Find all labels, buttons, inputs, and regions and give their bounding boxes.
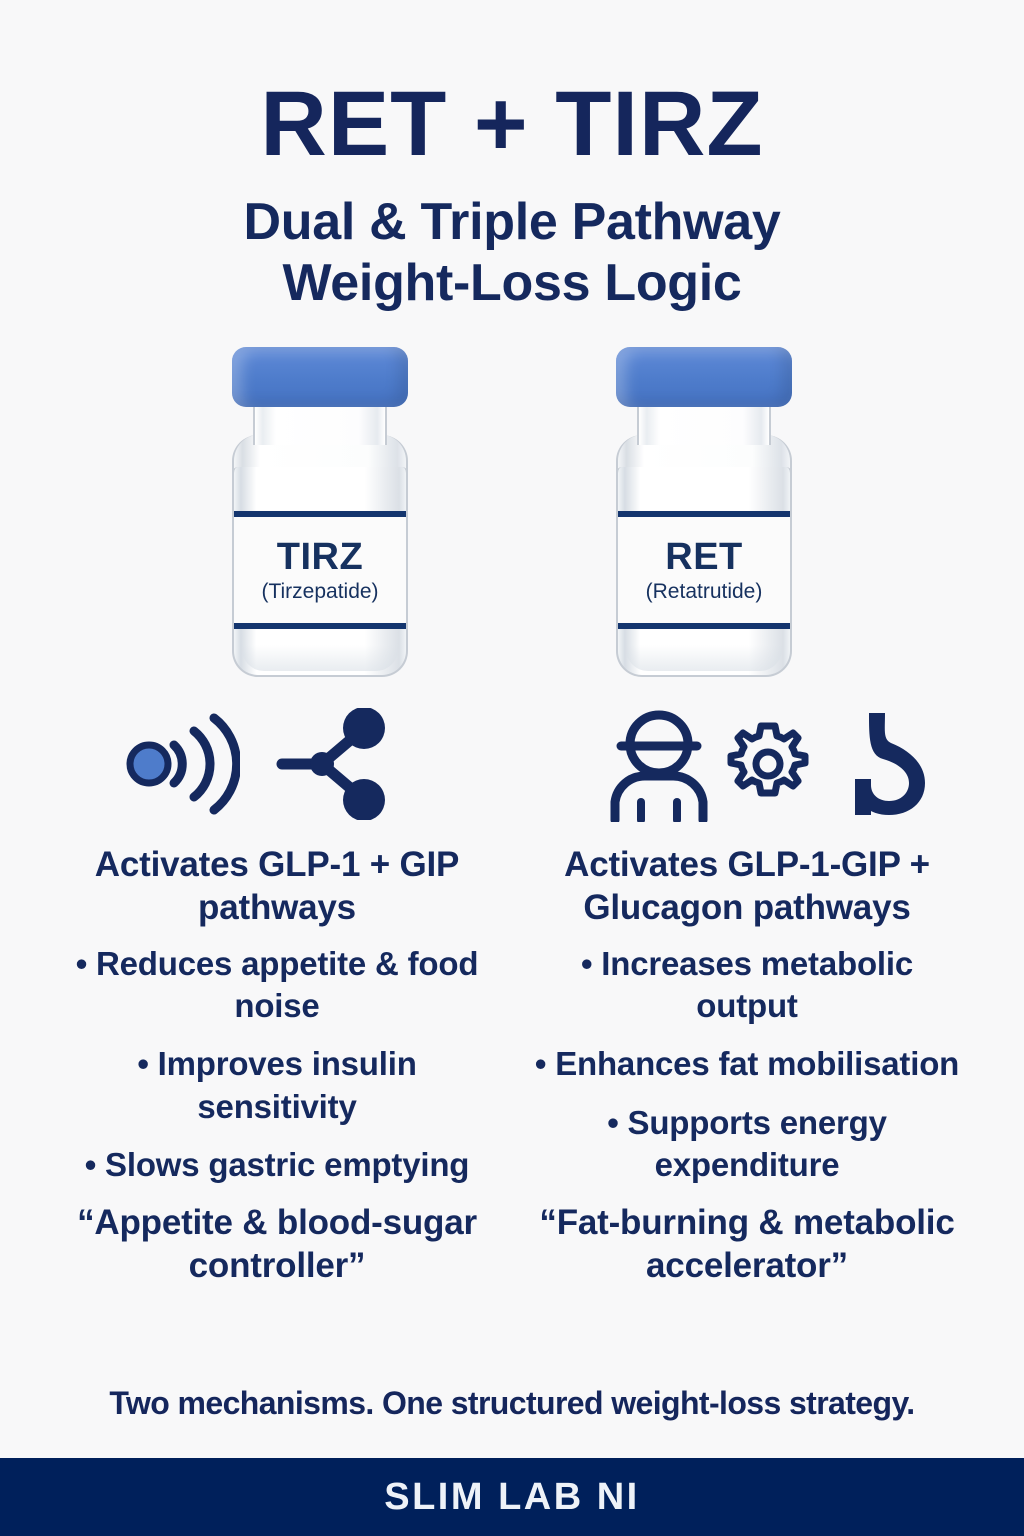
benefit-list: • Increases metabolic output • Enhances … — [526, 943, 968, 1186]
icon-group-tirz — [0, 699, 512, 829]
benefit-list: • Reduces appetite & food noise • Improv… — [56, 943, 498, 1186]
vial-label: TIRZ (Tirzepatide) — [234, 511, 406, 629]
vial-cap-icon — [616, 347, 792, 407]
brand-name: SLIM LAB NI — [384, 1476, 639, 1519]
vial-label-generic: (Retatrutide) — [646, 581, 763, 602]
vial-tirz: TIRZ (Tirzepatide) — [232, 347, 408, 677]
vial-ret: RET (Retatrutide) — [616, 347, 792, 677]
column-quote: “Fat-burning & metabolic accelerator” — [526, 1202, 968, 1287]
vial-cap-icon — [232, 347, 408, 407]
column-heading: Activates GLP-1 + GIP pathways — [56, 843, 498, 929]
column-tirz: Activates GLP-1 + GIP pathways • Reduces… — [42, 843, 512, 1288]
column-heading: Activates GLP-1-GIP + Glucagon pathways — [526, 843, 968, 929]
stomach-icon — [825, 709, 929, 819]
list-item: • Increases metabolic output — [526, 943, 968, 1027]
vial-label-name: RET — [665, 538, 743, 576]
vial-label-name: TIRZ — [277, 538, 363, 576]
vials-row: TIRZ (Tirzepatide) RET (Retatrutide) — [0, 347, 1024, 677]
icons-row — [0, 699, 1024, 829]
share-network-icon — [274, 708, 390, 820]
list-item: • Slows gastric emptying — [56, 1144, 498, 1186]
vial-label: RET (Retatrutide) — [618, 511, 790, 629]
list-item: • Enhances fat mobilisation — [526, 1043, 968, 1085]
list-item: • Supports energy expenditure — [526, 1102, 968, 1186]
vial-label-generic: (Tirzepatide) — [261, 581, 378, 602]
list-item: • Improves insulin sensitivity — [56, 1043, 498, 1127]
list-item: • Reduces appetite & food noise — [56, 943, 498, 1027]
tagline: Two mechanisms. One structured weight-lo… — [0, 1385, 1024, 1458]
subtitle-line-2: Weight-Loss Logic — [0, 253, 1024, 314]
page-title: RET + TIRZ — [0, 78, 1024, 170]
signal-wave-icon — [122, 712, 240, 816]
infographic-page: RET + TIRZ Dual & Triple Pathway Weight-… — [0, 0, 1024, 1536]
icon-group-ret — [512, 699, 1024, 829]
content-columns: Activates GLP-1 + GIP pathways • Reduces… — [0, 843, 1024, 1288]
column-quote: “Appetite & blood-sugar controller” — [56, 1202, 498, 1287]
column-ret: Activates GLP-1-GIP + Glucagon pathways … — [512, 843, 982, 1288]
subtitle-line-1: Dual & Triple Pathway — [0, 192, 1024, 253]
header: RET + TIRZ Dual & Triple Pathway Weight-… — [0, 0, 1024, 315]
person-icon — [607, 706, 711, 822]
gear-icon — [725, 721, 811, 807]
page-subtitle: Dual & Triple Pathway Weight-Loss Logic — [0, 192, 1024, 315]
footer-bar: SLIM LAB NI — [0, 1458, 1024, 1536]
